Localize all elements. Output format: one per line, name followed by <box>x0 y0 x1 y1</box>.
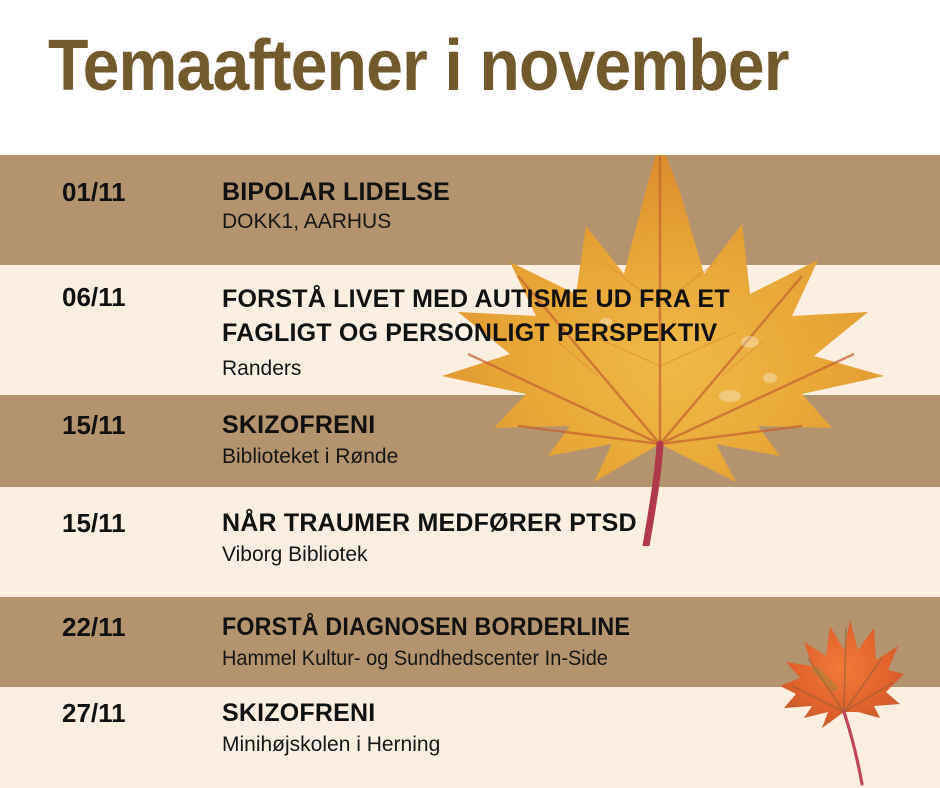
poster-header: Temaaftener i november <box>0 0 940 155</box>
event-body: SKIZOFRENI Minihøjskolen i Herning <box>222 698 930 758</box>
poster-canvas: Temaaftener i november 01/11 BIPOLAR LID… <box>0 0 940 788</box>
page-title: Temaaftener i november <box>48 26 789 106</box>
event-venue: Minihøjskolen i Herning <box>222 732 930 758</box>
event-title: FORSTÅ LIVET MED AUTISME UD FRA ET FAGLI… <box>222 282 930 350</box>
event-title: FORSTÅ DIAGNOSEN BORDERLINE <box>222 612 880 642</box>
event-venue: Randers <box>222 356 930 382</box>
event-body: NÅR TRAUMER MEDFØRER PTSD Viborg Bibliot… <box>222 508 930 568</box>
event-venue: Hammel Kultur- og Sundhedscenter In-Side <box>222 646 895 672</box>
event-venue: DOKK1, AARHUS <box>222 209 930 235</box>
event-date: 22/11 <box>62 612 126 642</box>
event-body: FORSTÅ LIVET MED AUTISME UD FRA ET FAGLI… <box>222 282 930 382</box>
event-body: BIPOLAR LIDELSE DOKK1, AARHUS <box>222 177 930 235</box>
event-title: NÅR TRAUMER MEDFØRER PTSD <box>222 508 930 538</box>
event-body: SKIZOFRENI Biblioteket i Rønde <box>222 410 930 470</box>
event-body: FORSTÅ DIAGNOSEN BORDERLINE Hammel Kultu… <box>222 612 930 672</box>
event-venue: Viborg Bibliotek <box>222 542 930 568</box>
event-date: 06/11 <box>62 282 126 312</box>
event-date: 27/11 <box>62 698 126 728</box>
event-date: 15/11 <box>62 508 126 538</box>
event-title: SKIZOFRENI <box>222 410 930 440</box>
event-date: 01/11 <box>62 177 126 207</box>
event-venue: Biblioteket i Rønde <box>222 444 930 470</box>
event-title: BIPOLAR LIDELSE <box>222 177 930 207</box>
event-date: 15/11 <box>62 410 126 440</box>
event-title: SKIZOFRENI <box>222 698 930 728</box>
